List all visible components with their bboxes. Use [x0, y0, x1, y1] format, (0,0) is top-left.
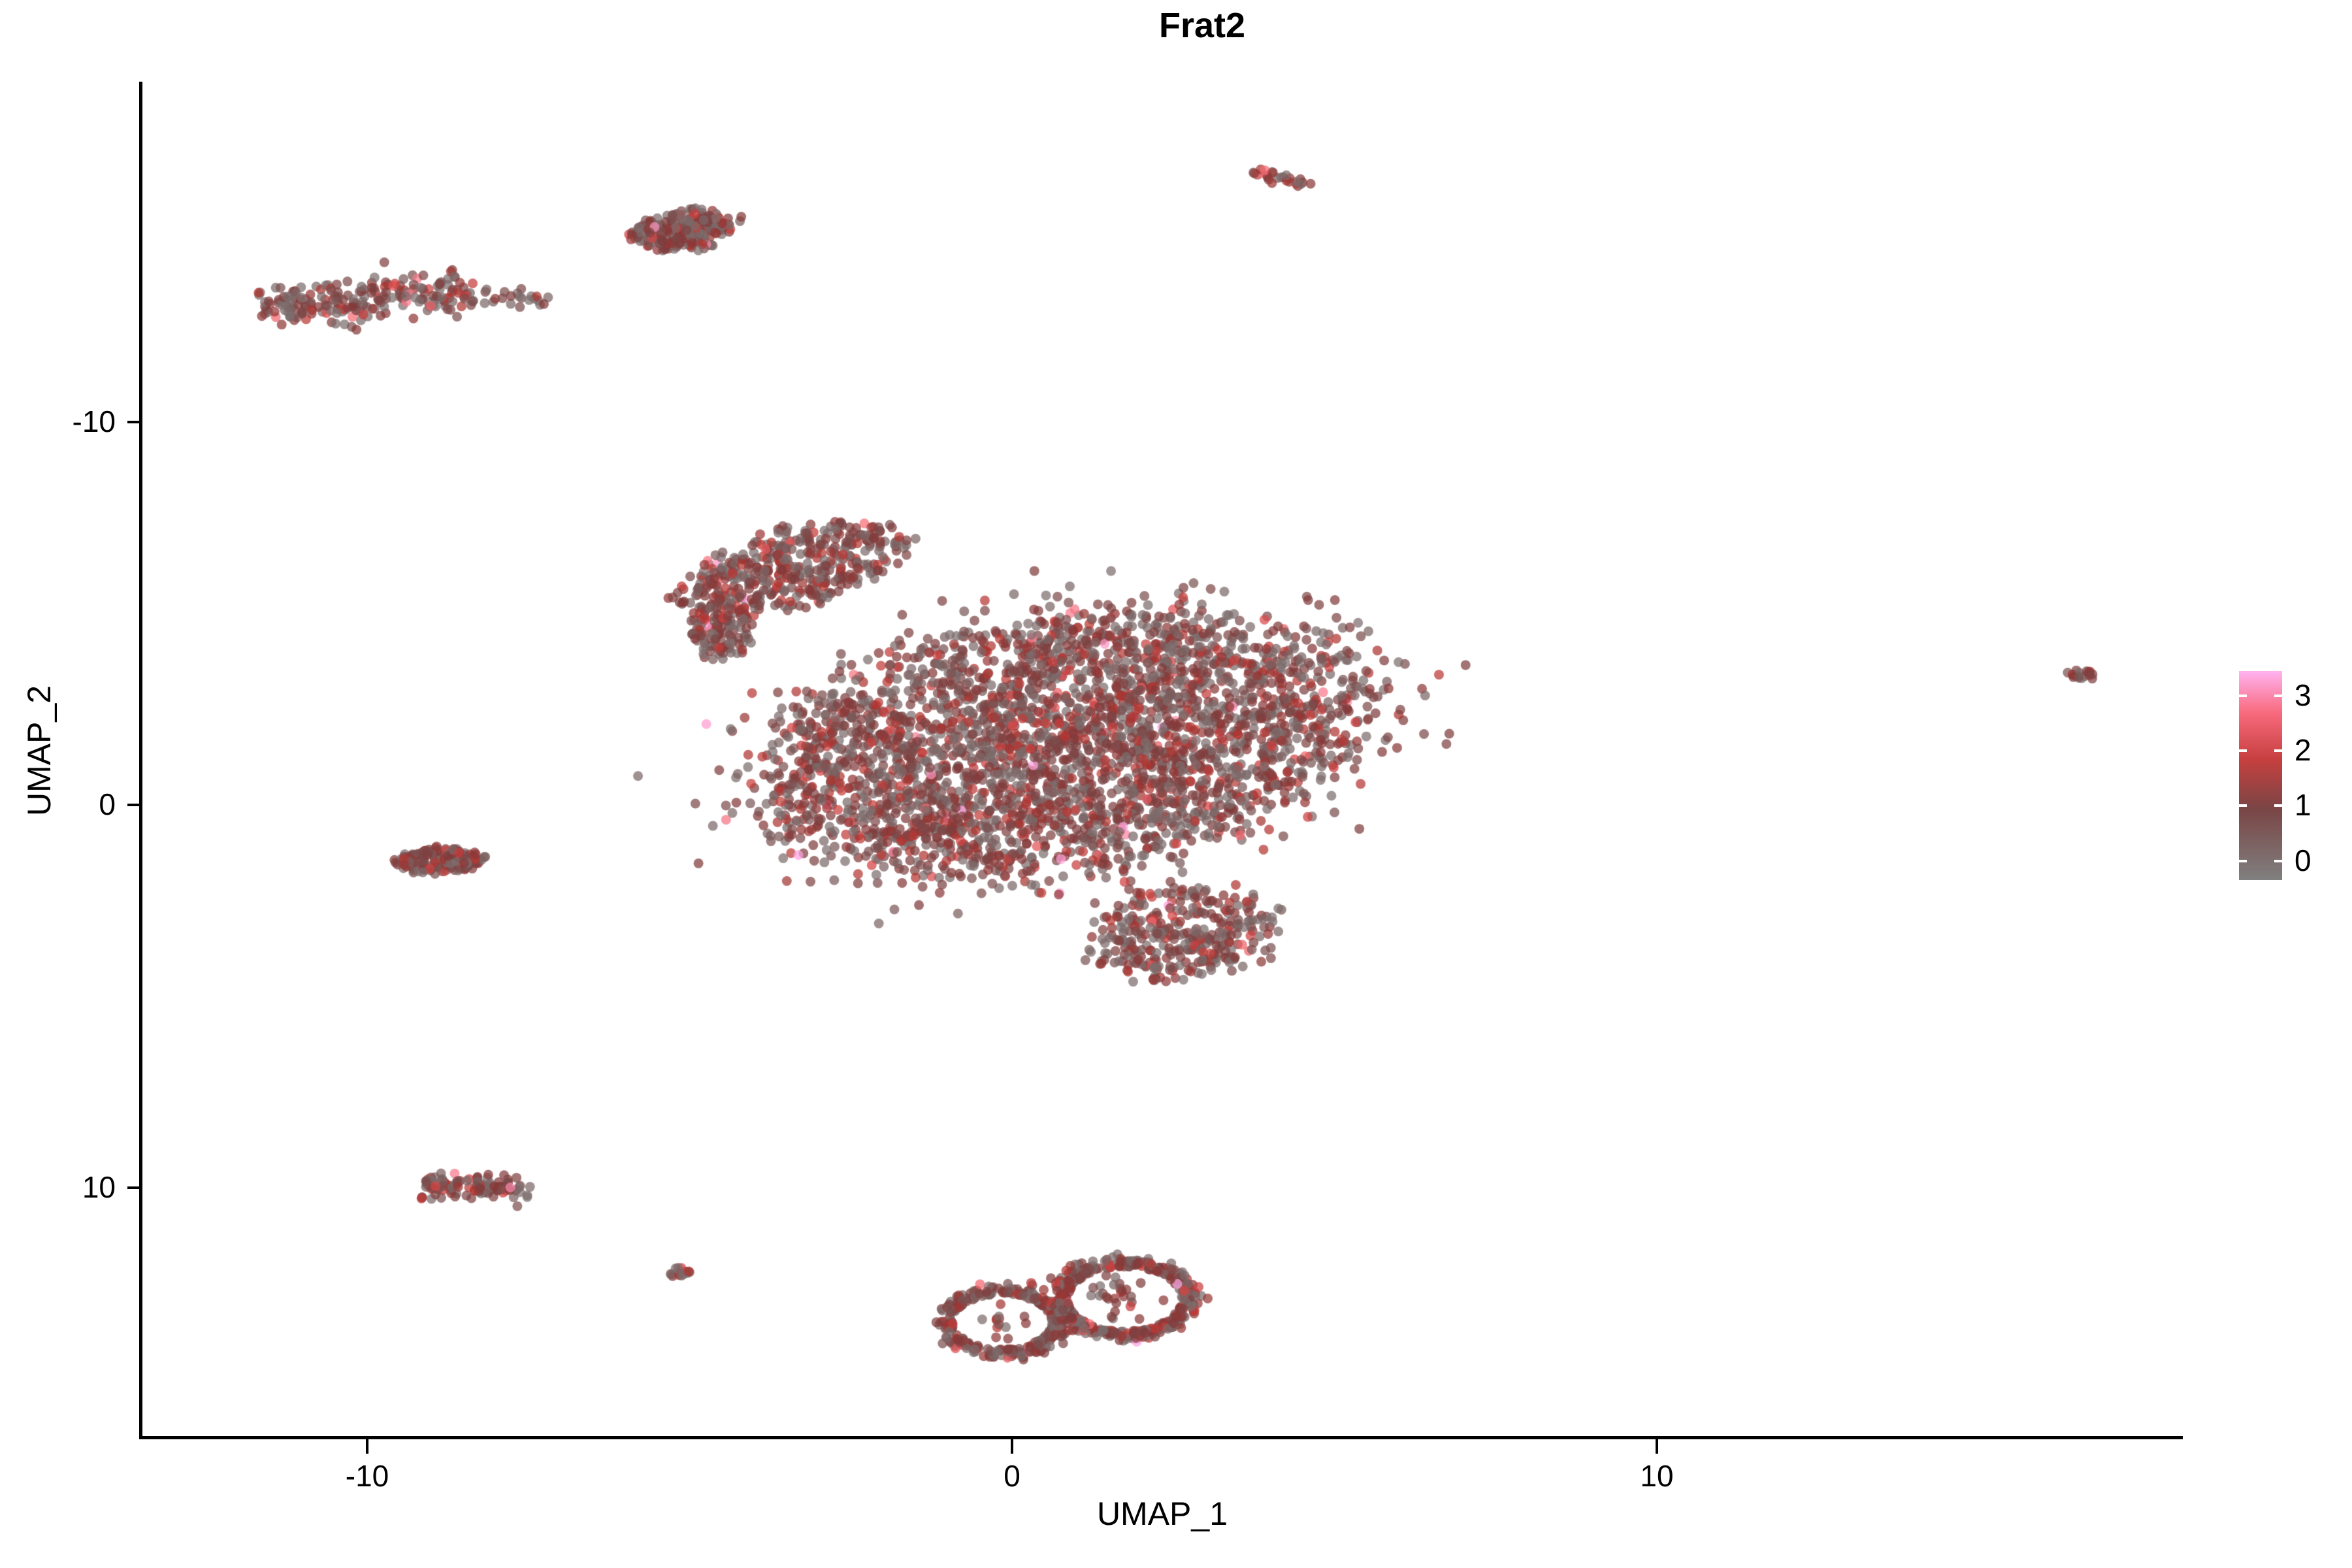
- x-tick-mark: [1656, 1439, 1658, 1454]
- y-tick-label: 10: [0, 1169, 116, 1205]
- y-tick-mark: [127, 804, 142, 806]
- colorbar-tick-mark: [2274, 860, 2282, 862]
- colorbar-tick-mark: [2239, 749, 2247, 752]
- x-tick-mark: [366, 1439, 368, 1454]
- colorbar-gradient: [2239, 671, 2282, 880]
- x-tick-label: 10: [1578, 1458, 1735, 1494]
- plot-panel: [142, 82, 2182, 1437]
- colorbar-label: 3: [2295, 680, 2311, 710]
- colorbar-label: 2: [2295, 735, 2311, 765]
- colorbar-label: 1: [2295, 790, 2311, 820]
- y-axis-title: UMAP_2: [20, 542, 58, 960]
- x-tick-label: -10: [289, 1458, 446, 1494]
- colorbar-tick-mark: [2239, 860, 2247, 862]
- colorbar-tick-mark: [2274, 749, 2282, 752]
- colorbar-tick-mark: [2274, 694, 2282, 697]
- colorbar-label: 0: [2295, 845, 2311, 875]
- colorbar-tick-mark: [2239, 694, 2247, 697]
- y-tick-mark: [127, 1186, 142, 1189]
- x-axis-line: [142, 1436, 2183, 1439]
- umap-feature-plot: Frat2 100-10 -10010 UMAP_1 UMAP_2 3210: [0, 0, 2352, 1568]
- color-legend: 3210: [2234, 666, 2345, 895]
- x-tick-label: 0: [934, 1458, 1090, 1494]
- colorbar-tick-mark: [2239, 804, 2247, 807]
- page-title: Frat2: [0, 5, 2352, 46]
- y-axis-line: [139, 82, 142, 1439]
- colorbar-tick-mark: [2274, 804, 2282, 807]
- x-axis-title: UMAP_1: [142, 1495, 2183, 1533]
- x-tick-mark: [1011, 1439, 1013, 1454]
- y-tick-label: -10: [0, 404, 116, 439]
- scatter-points-layer: [142, 82, 2182, 1437]
- y-tick-mark: [127, 421, 142, 423]
